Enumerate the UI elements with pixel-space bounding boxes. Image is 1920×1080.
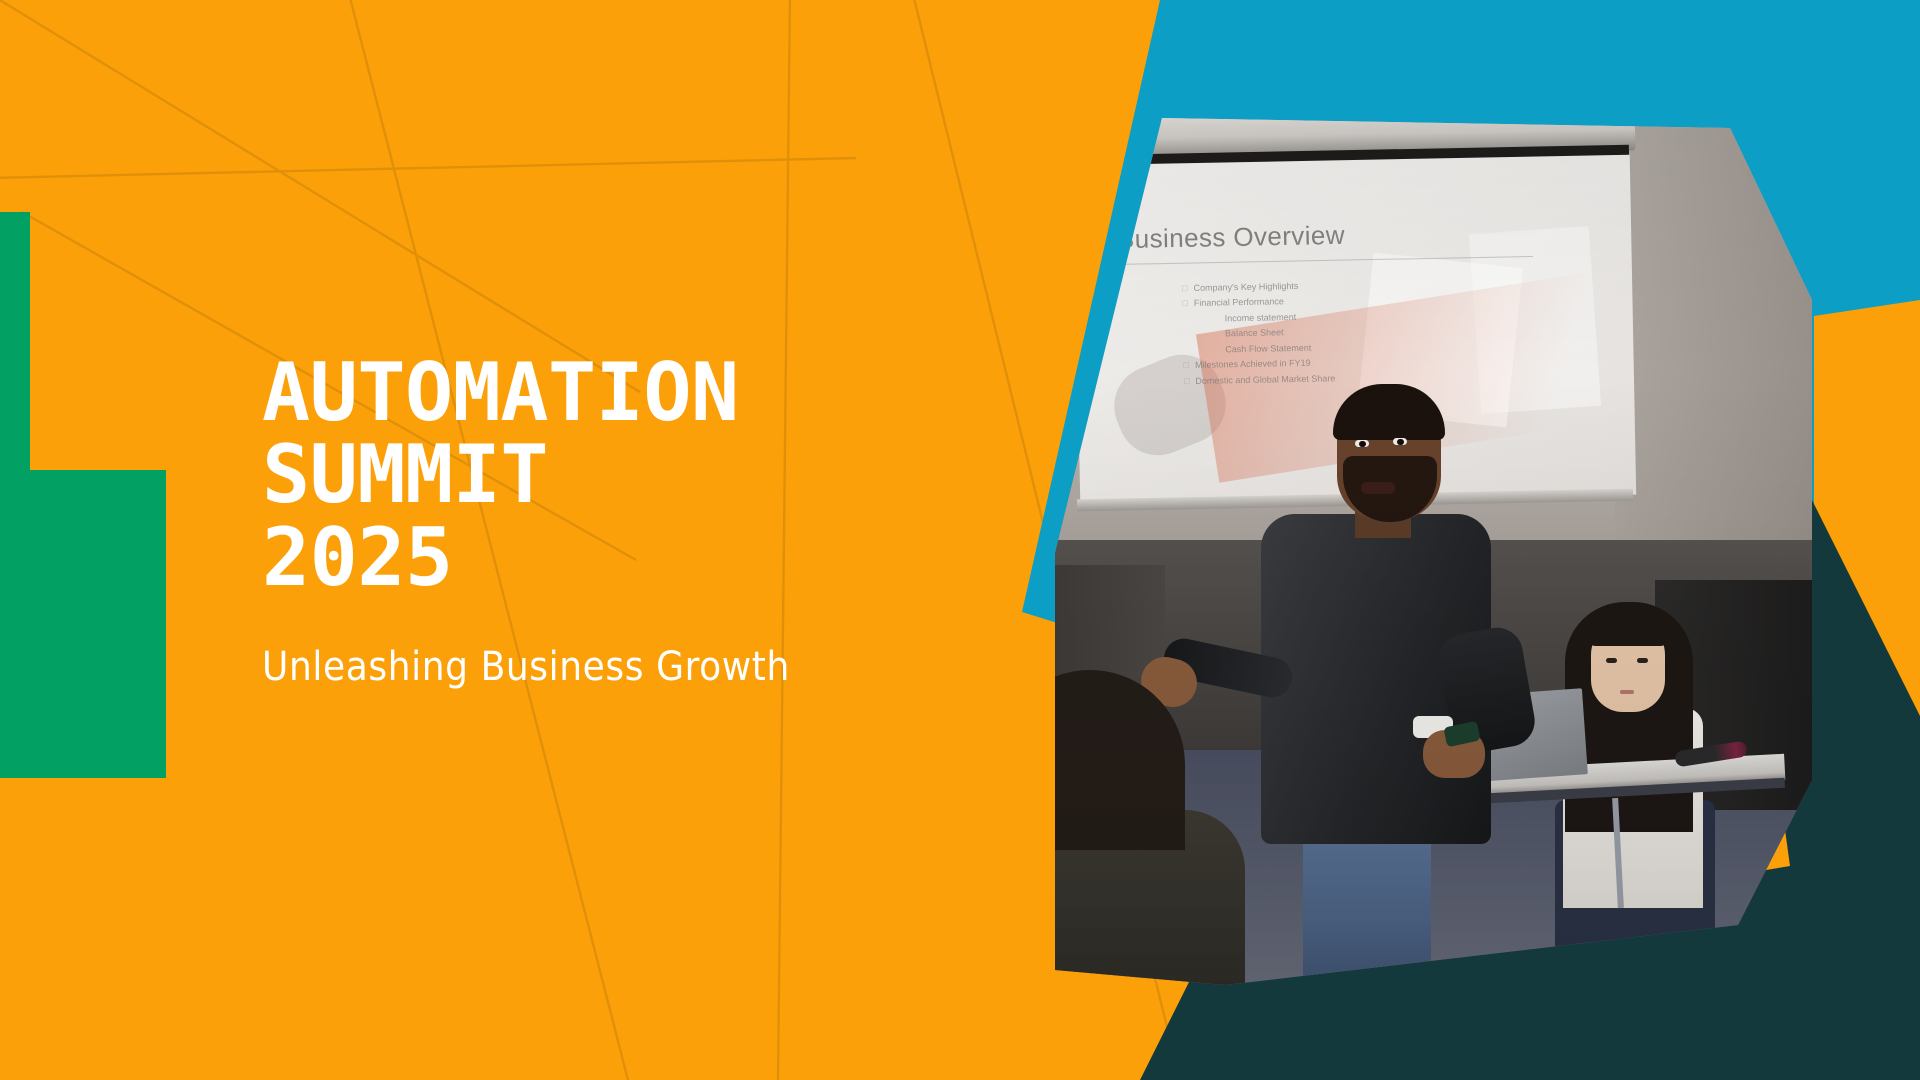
page-title: AUTOMATION SUMMIT 2025 — [262, 352, 1022, 599]
page-subtitle: Unleashing Business Growth — [262, 599, 1022, 691]
title-block: AUTOMATION SUMMIT 2025 Unleashing Busine… — [262, 352, 1022, 691]
photo-vignette — [1055, 110, 1815, 990]
presentation-slide: Business Overview Company's Key Highligh… — [0, 0, 1920, 1080]
hero-photo-scene: Business Overview Company's Key Highligh… — [1055, 110, 1815, 990]
